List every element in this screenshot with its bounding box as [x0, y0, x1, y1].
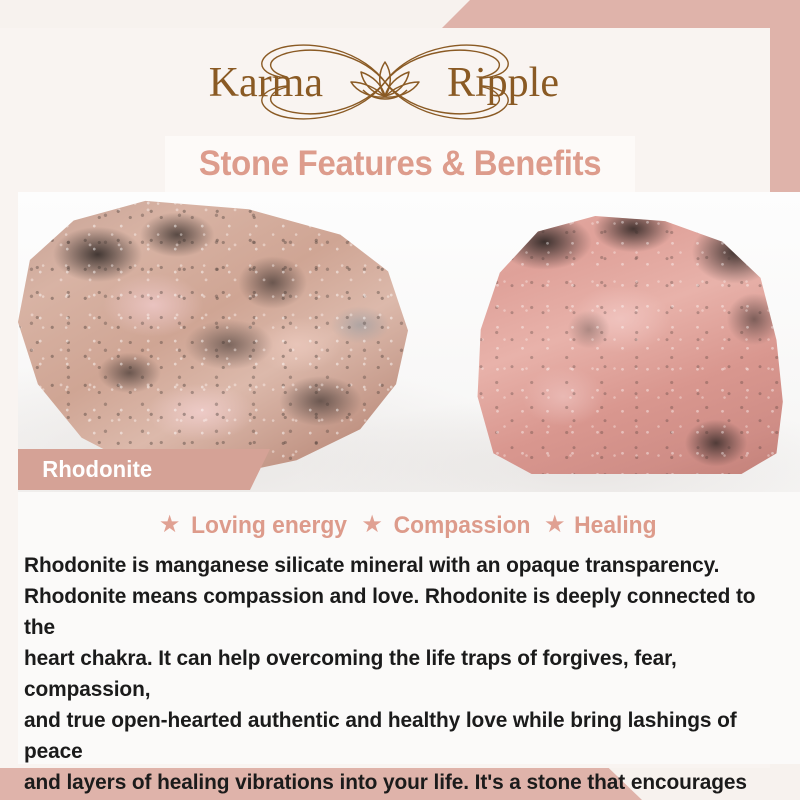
description-line: Rhodonite is manganese silicate mineral …: [24, 550, 771, 581]
stone-info-card: Karma Ripple Stone Features & Benefits R…: [0, 0, 800, 800]
description-line: and layers of healing vibrations into yo…: [24, 767, 771, 798]
stone-name-banner: Rhodonite: [18, 449, 270, 490]
benefit-item-healing: ★ Healing: [544, 512, 659, 540]
title-banner: Stone Features & Benefits: [165, 136, 635, 192]
benefit-item-loving-energy: ★ Loving energy: [159, 512, 352, 540]
star-icon: ★: [159, 513, 181, 537]
star-icon: ★: [361, 513, 383, 537]
benefit-item-compassion: ★ Compassion: [361, 512, 534, 540]
description-line: heart chakra. It can help overcoming the…: [24, 643, 771, 705]
benefit-label-healing: Healing: [575, 512, 657, 540]
brand-name-right: Ripple: [447, 60, 559, 106]
lotus-icon: [351, 62, 419, 99]
brand-logo: Karma Ripple: [0, 26, 770, 138]
benefit-label-compassion: Compassion: [394, 512, 531, 540]
benefit-label-loving-energy: Loving energy: [191, 512, 347, 540]
stone-name-label: Rhodonite: [42, 456, 152, 483]
karma-ripple-logotype: Karma Ripple: [175, 30, 595, 134]
page-title: Stone Features & Benefits: [199, 144, 601, 184]
description-line: and true open-hearted authentic and heal…: [24, 705, 771, 767]
stone-photo: [18, 192, 800, 492]
description-text: Rhodonite is manganese silicate mineral …: [24, 550, 771, 800]
benefits-row: ★ Loving energy ★ Compassion ★ Healing: [18, 492, 800, 540]
content-panel: ★ Loving energy ★ Compassion ★ Healing R…: [18, 492, 800, 764]
description-line: Rhodonite means compassion and love. Rho…: [24, 581, 771, 643]
star-icon: ★: [544, 513, 566, 537]
brand-name-left: Karma: [209, 60, 324, 106]
